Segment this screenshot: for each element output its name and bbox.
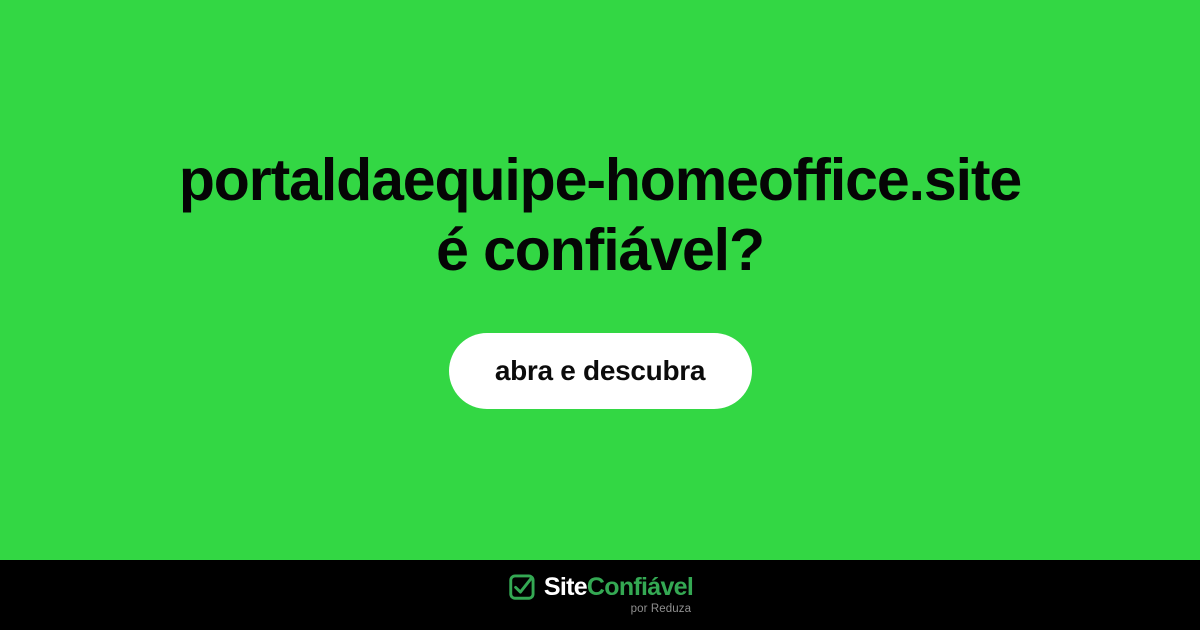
brand-row: SiteConfiável [507,572,693,602]
brand-tagline: por Reduza [631,604,691,616]
page-title-line-1: portaldaequipe-homeoffice.site [179,145,1021,215]
hero-section: portaldaequipe-homeoffice.site é confiáv… [0,0,1200,560]
page-title: portaldaequipe-homeoffice.site é confiáv… [179,145,1021,285]
brand-wordmark-site: Site [544,573,587,601]
page-title-line-2: é confiável? [179,215,1021,285]
brand-lockup[interactable]: SiteConfiável por Reduza [507,572,693,616]
cta-container: abra e descubra [449,333,752,409]
open-and-discover-button[interactable]: abra e descubra [449,333,752,409]
social-share-card: portaldaequipe-homeoffice.site é confiáv… [0,0,1200,630]
brand-wordmark: SiteConfiável [544,575,693,600]
footer-bar: SiteConfiável por Reduza [0,560,1200,630]
brand-wordmark-confiavel: Confiável [587,573,693,601]
shield-check-icon [507,572,537,602]
